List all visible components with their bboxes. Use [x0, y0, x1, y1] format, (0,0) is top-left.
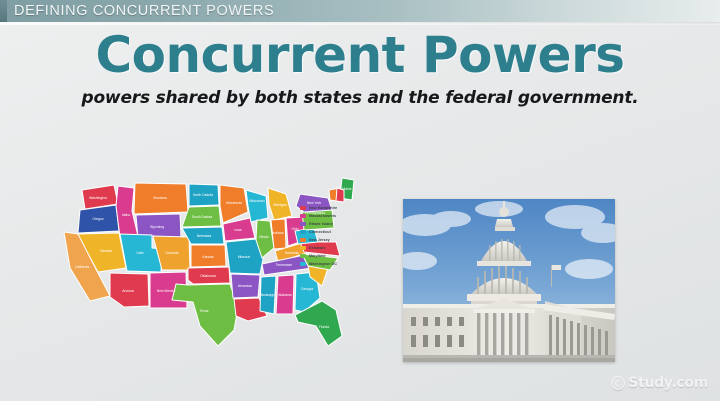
svg-text:Arizona: Arizona: [122, 289, 134, 293]
callout-swatch: [300, 238, 306, 242]
svg-text:Oklahoma: Oklahoma: [200, 274, 216, 278]
callout-label: Washington DC: [309, 262, 337, 266]
svg-text:Georgia: Georgia: [301, 287, 313, 291]
svg-text:Wisconsin: Wisconsin: [249, 199, 265, 203]
header-underline: [0, 22, 720, 25]
svg-text:Minnesota: Minnesota: [226, 201, 242, 205]
callout-swatch: [300, 206, 306, 210]
callout-item: Washington DC: [300, 260, 374, 268]
callout-item: Maryland: [300, 252, 374, 260]
callout-label: Massachusetts: [309, 214, 336, 218]
svg-text:Alabama: Alabama: [278, 293, 291, 297]
callout-swatch: [300, 230, 306, 234]
watermark-label: Study.com: [628, 375, 708, 391]
callout-item: Delaware: [300, 244, 374, 252]
svg-text:Iowa: Iowa: [234, 228, 241, 232]
callout-label: New Hampshire: [309, 206, 337, 210]
callout-item: Connecticut: [300, 228, 374, 236]
page-title: Concurrent Powers: [0, 26, 720, 84]
svg-text:Kentucky: Kentucky: [285, 251, 299, 255]
map-callout-list: New Hampshire Massachusetts Rhode Island…: [300, 204, 374, 268]
svg-text:Maine: Maine: [342, 187, 351, 191]
svg-text:Tennessee: Tennessee: [276, 263, 293, 267]
svg-text:Arkansas: Arkansas: [238, 284, 252, 288]
callout-swatch: [300, 246, 306, 250]
svg-text:Washington: Washington: [89, 196, 107, 200]
svg-text:Illinois: Illinois: [259, 235, 269, 239]
slide-canvas: DEFINING CONCURRENT POWERS Concurrent Po…: [0, 0, 720, 401]
page-subtitle: powers shared by both states and the fed…: [0, 88, 720, 108]
callout-label: New Jersey: [309, 238, 330, 242]
callout-label: Maryland: [309, 254, 326, 258]
callout-swatch: [300, 254, 306, 258]
svg-text:Oregon: Oregon: [92, 217, 103, 221]
lesson-header-bar: DEFINING CONCURRENT POWERS: [0, 0, 720, 22]
svg-text:Mississippi: Mississippi: [259, 293, 276, 297]
svg-text:California: California: [75, 265, 89, 269]
capitol-building-photo: [403, 199, 615, 362]
svg-text:Nebraska: Nebraska: [197, 234, 212, 238]
svg-text:Michigan: Michigan: [273, 203, 287, 207]
callout-item: Rhode Island: [300, 220, 374, 228]
capitol-photo-graphic: [403, 199, 615, 362]
callout-swatch: [300, 222, 306, 226]
svg-text:New Mexico: New Mexico: [157, 289, 176, 293]
header-left-accent: [0, 0, 7, 22]
svg-text:Nevada: Nevada: [100, 249, 112, 253]
study-com-watermark: Study.com: [611, 375, 708, 391]
callout-item: New Hampshire: [300, 204, 374, 212]
callout-label: Rhode Island: [309, 222, 333, 226]
svg-text:Idaho: Idaho: [122, 213, 131, 217]
svg-text:Texas: Texas: [200, 309, 209, 313]
svg-text:Colorado: Colorado: [165, 251, 179, 255]
copyright-circle-icon: [611, 376, 625, 390]
svg-text:Ohio: Ohio: [291, 227, 298, 231]
svg-text:Indiana: Indiana: [272, 231, 283, 235]
svg-text:South Dakota: South Dakota: [192, 215, 213, 219]
us-states-map: Washington Oregon Idaho Montana Wyoming …: [52, 176, 372, 356]
state-texas: [172, 284, 238, 346]
lesson-header-title: DEFINING CONCURRENT POWERS: [14, 0, 274, 22]
callout-item: Massachusetts: [300, 212, 374, 220]
svg-text:North Dakota: North Dakota: [193, 193, 213, 197]
callout-item: New Jersey: [300, 236, 374, 244]
svg-text:Utah: Utah: [136, 251, 143, 255]
svg-text:Wyoming: Wyoming: [150, 225, 164, 229]
svg-text:Montana: Montana: [153, 196, 166, 200]
callout-label: Delaware: [309, 246, 326, 250]
svg-text:Missouri: Missouri: [238, 255, 251, 259]
svg-text:Kansas: Kansas: [202, 255, 214, 259]
svg-text:Florida: Florida: [319, 325, 329, 329]
callout-label: Connecticut: [309, 230, 331, 234]
callout-swatch: [300, 262, 306, 266]
state-wisconsin: [246, 190, 268, 222]
callout-swatch: [300, 214, 306, 218]
